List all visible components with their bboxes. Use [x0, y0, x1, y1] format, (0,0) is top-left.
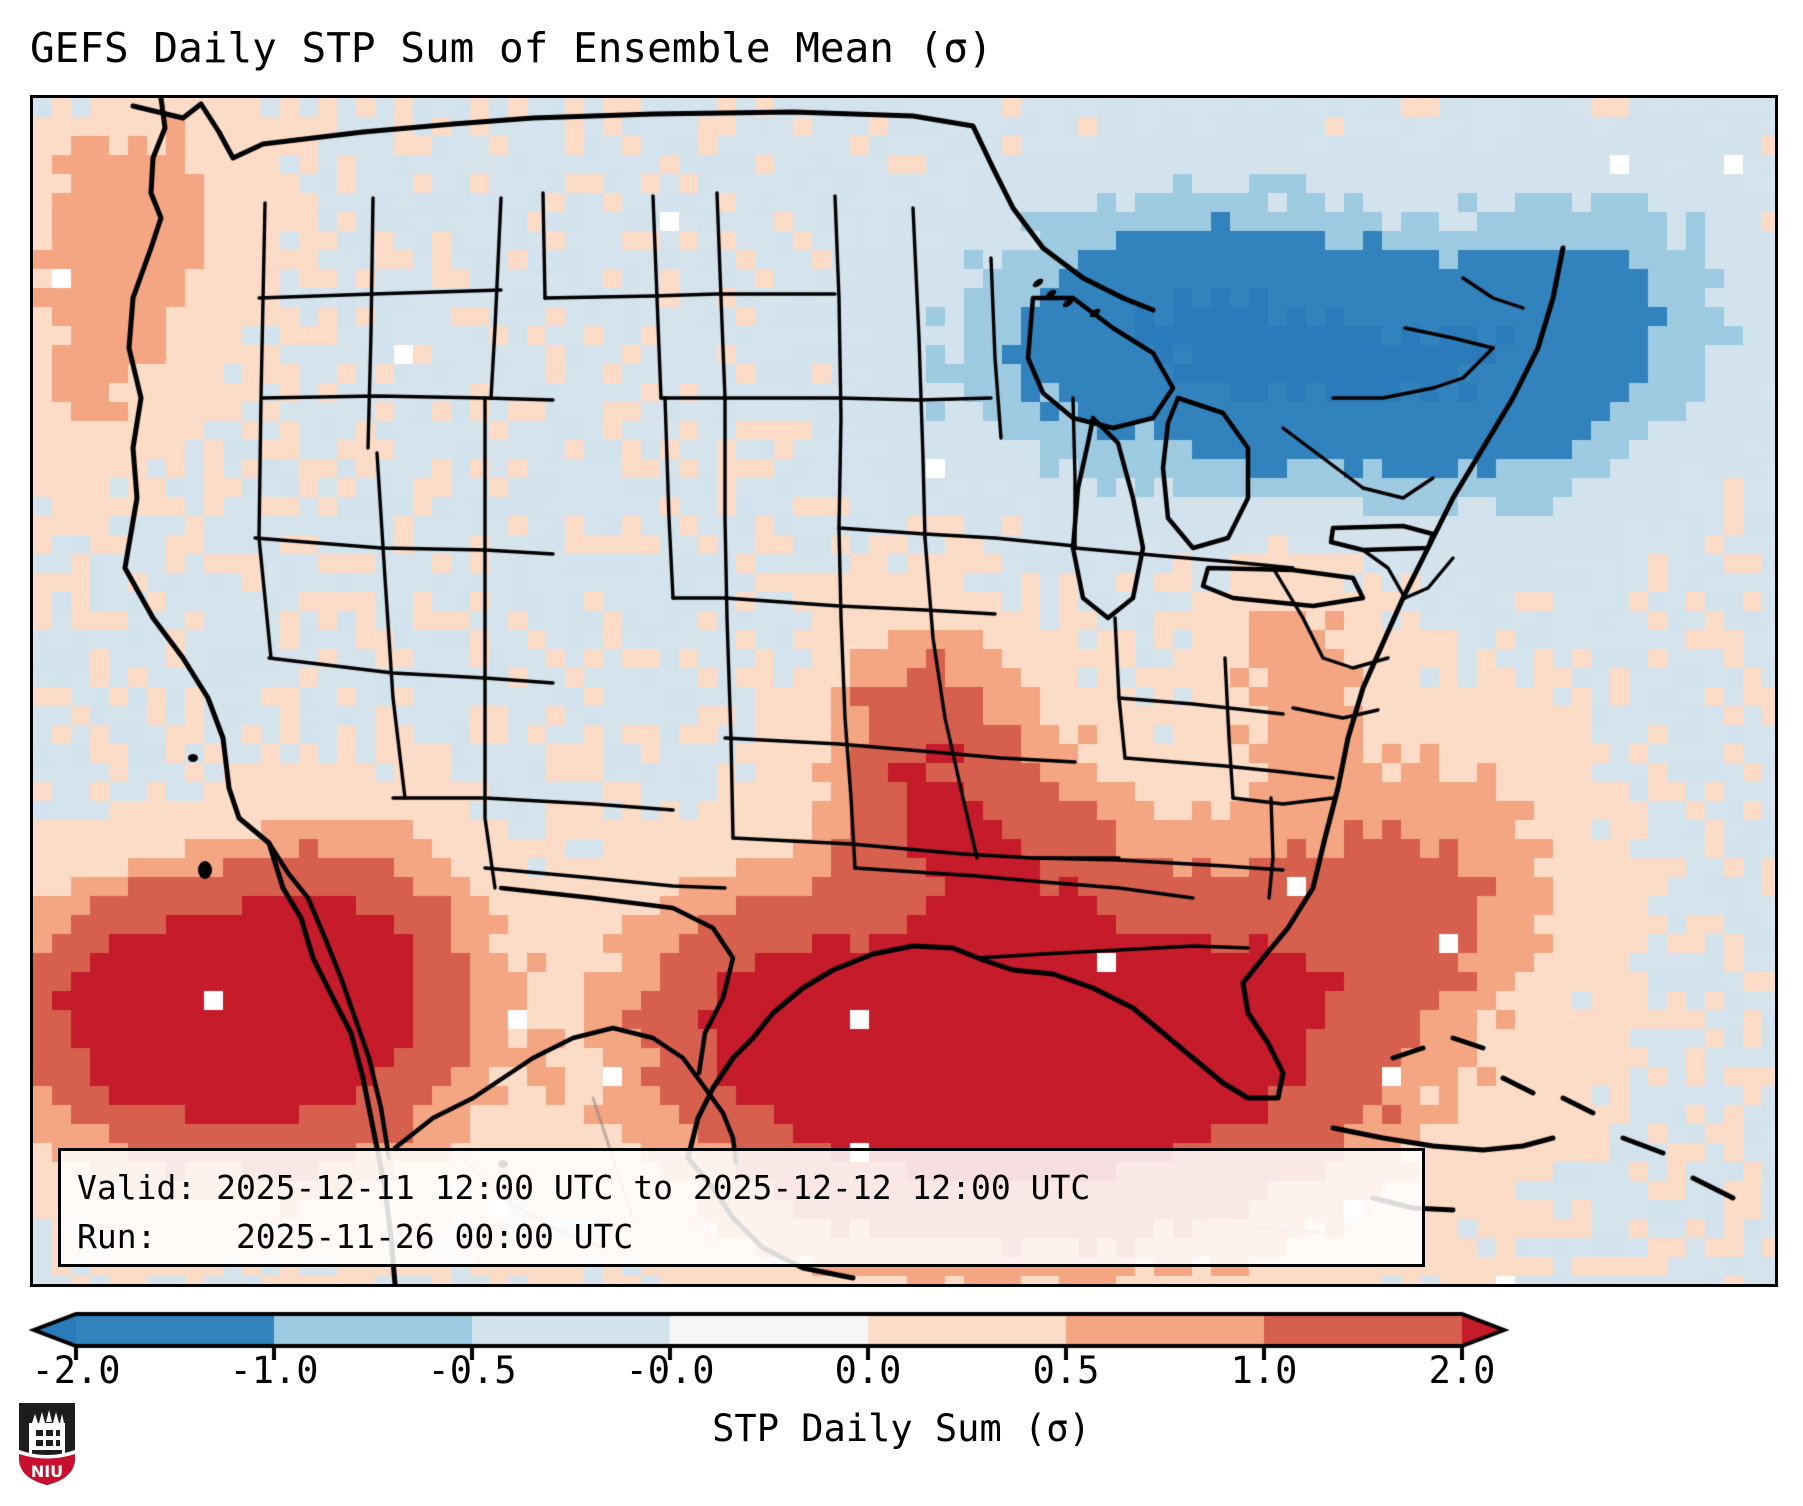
colorbar-axis-label: STP Daily Sum (σ) [0, 1404, 1803, 1454]
niu-logo: NIU [16, 1400, 78, 1488]
colorbar-tick-0: -2.0 [31, 1346, 120, 1396]
figure-root: GEFS Daily STP Sum of Ensemble Mean (σ) … [0, 0, 1803, 1506]
page-title: GEFS Daily STP Sum of Ensemble Mean (σ) [30, 20, 1770, 76]
colorbar[interactable]: -2.0-1.0-0.5-0.00.00.51.02.0 STP Daily S… [0, 1300, 1803, 1506]
niu-logo-text: NIU [31, 1462, 63, 1481]
colorbar-tick-3: -0.0 [625, 1346, 714, 1396]
colorbar-tick-6: 1.0 [1231, 1346, 1298, 1396]
colorbar-tick-1: -1.0 [229, 1346, 318, 1396]
colorbar-tick-labels: -2.0-1.0-0.5-0.00.00.51.02.0 [0, 1346, 1803, 1396]
colorbar-tick-7: 2.0 [1429, 1346, 1496, 1396]
annotation-run-line: Run: 2025-11-26 00:00 UTC [77, 1212, 1406, 1261]
map-panel[interactable] [30, 95, 1778, 1287]
stp-anomaly-heatmap[interactable] [33, 98, 1775, 1284]
colorbar-tick-2: -0.5 [427, 1346, 516, 1396]
colorbar-tick-4: 0.0 [835, 1346, 902, 1396]
niu-shield-icon: NIU [16, 1400, 78, 1488]
valid-run-annotation-box: Valid: 2025-12-11 12:00 UTC to 2025-12-1… [58, 1148, 1425, 1267]
colorbar-tick-5: 0.5 [1033, 1346, 1100, 1396]
annotation-valid-line: Valid: 2025-12-11 12:00 UTC to 2025-12-1… [77, 1163, 1406, 1212]
